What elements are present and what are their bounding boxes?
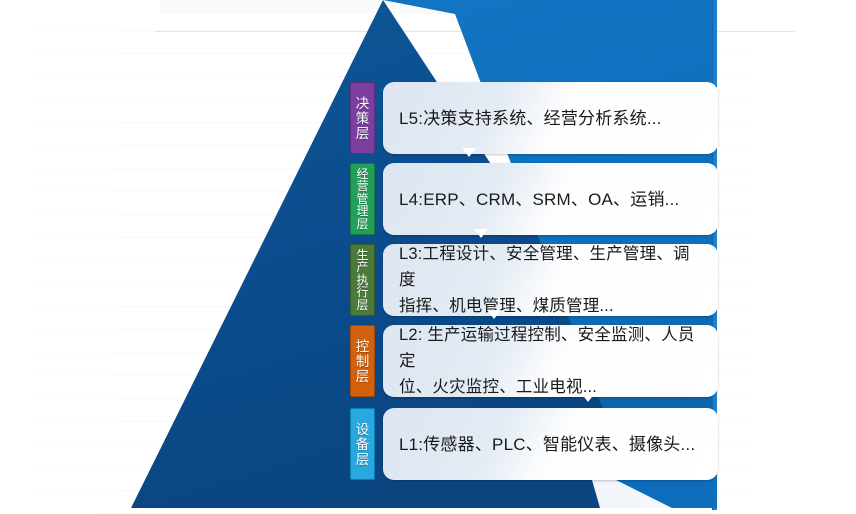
level-badge-l5: 决 策 层 <box>350 82 375 154</box>
level-card-text-l1: L1:传感器、PLC、智能仪表、摄像头... <box>399 432 695 457</box>
level-card-l2[interactable]: L2: 生产运输过程控制、安全监测、人员定 位、火灾监控、工业电视... <box>383 325 718 397</box>
level-row-l5[interactable]: 决 策 层 L5:决策支持系统、经营分析系统... <box>350 82 718 154</box>
level-badge-l4: 经 营 管 理 层 <box>350 163 375 235</box>
level-card-l3[interactable]: L3:工程设计、安全管理、生产管理、调度 指挥、机电管理、煤质管理... <box>383 244 718 316</box>
badge-char: 决 <box>356 96 370 111</box>
badge-char: 控 <box>356 339 370 354</box>
level-card-line: 指挥、机电管理、煤质管理... <box>399 293 706 319</box>
level-card-l1[interactable]: L1:传感器、PLC、智能仪表、摄像头... <box>383 408 718 480</box>
badge-char: 产 <box>356 261 368 274</box>
level-badge-l3: 生 产 执 行 层 <box>350 244 375 316</box>
level-row-l3[interactable]: 生 产 执 行 层 L3:工程设计、安全管理、生产管理、调度 指挥、机电管理、煤… <box>350 244 718 316</box>
level-card-l5[interactable]: L5:决策支持系统、经营分析系统... <box>383 82 718 154</box>
level-card-l4[interactable]: L4:ERP、CRM、SRM、OA、运销... <box>383 163 718 235</box>
badge-char: 层 <box>356 452 370 467</box>
triangle-down-icon <box>462 148 476 157</box>
level-row-l4[interactable]: 经 营 管 理 层 L4:ERP、CRM、SRM、OA、运销... <box>350 163 718 235</box>
badge-char: 层 <box>356 299 368 312</box>
triangle-down-icon <box>487 310 501 319</box>
level-row-l2[interactable]: 控 制 层 L2: 生产运输过程控制、安全监测、人员定 位、火灾监控、工业电视.… <box>350 325 718 397</box>
badge-char: 理 <box>356 205 368 218</box>
triangle-down-icon <box>474 229 488 238</box>
level-card-text-l3: L3:工程设计、安全管理、生产管理、调度 指挥、机电管理、煤质管理... <box>399 241 706 319</box>
level-card-text-l2: L2: 生产运输过程控制、安全监测、人员定 位、火灾监控、工业电视... <box>399 322 706 400</box>
badge-char: 层 <box>356 126 370 141</box>
level-badge-l1: 设 备 层 <box>350 408 375 480</box>
triangle-down-icon <box>581 393 595 402</box>
level-card-line: 位、火灾监控、工业电视... <box>399 374 706 400</box>
level-card-line: L2: 生产运输过程控制、安全监测、人员定 <box>399 322 706 374</box>
level-badge-l2: 控 制 层 <box>350 325 375 397</box>
level-card-text-l5: L5:决策支持系统、经营分析系统... <box>399 106 662 131</box>
badge-char: 层 <box>356 218 368 231</box>
diagram-canvas: 决 策 层 L5:决策支持系统、经营分析系统... 经 营 管 理 层 L4:E… <box>0 0 856 514</box>
badge-char: 营 <box>356 180 368 193</box>
badge-char: 层 <box>356 369 370 384</box>
level-card-text-l4: L4:ERP、CRM、SRM、OA、运销... <box>399 187 679 212</box>
level-row-l1[interactable]: 设 备 层 L1:传感器、PLC、智能仪表、摄像头... <box>350 408 718 480</box>
badge-char: 设 <box>356 422 370 437</box>
level-card-line: L3:工程设计、安全管理、生产管理、调度 <box>399 241 706 293</box>
badge-char: 备 <box>356 437 370 452</box>
badge-char: 制 <box>356 354 370 369</box>
badge-char: 策 <box>356 111 370 126</box>
badge-char: 行 <box>356 286 368 299</box>
